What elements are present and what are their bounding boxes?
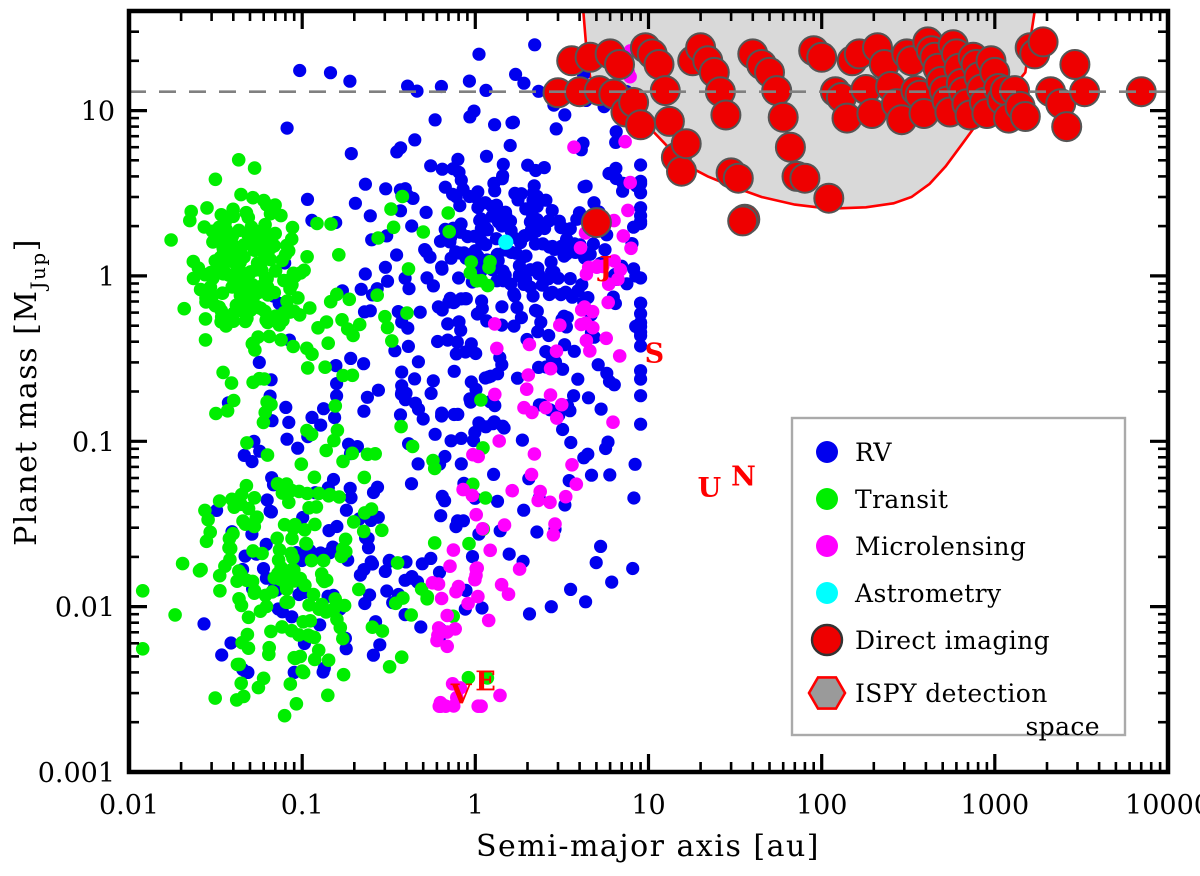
data-point <box>465 375 478 388</box>
data-point <box>287 304 301 318</box>
data-point <box>295 457 309 471</box>
data-point <box>300 250 314 264</box>
data-point <box>301 193 314 206</box>
data-point <box>487 468 500 481</box>
data-point <box>465 337 478 350</box>
data-point <box>443 559 457 573</box>
data-point <box>495 300 508 313</box>
data-point <box>517 401 531 415</box>
data-point <box>539 401 553 415</box>
data-point <box>343 75 356 88</box>
data-point <box>531 261 544 274</box>
data-point <box>412 403 425 416</box>
data-point <box>1052 112 1081 141</box>
data-point <box>582 391 595 404</box>
data-point <box>807 43 836 72</box>
y-tick-label: 0.1 <box>72 427 115 458</box>
data-point <box>332 248 346 262</box>
data-point <box>431 629 445 643</box>
data-point <box>412 457 425 470</box>
data-point <box>400 306 414 320</box>
data-point <box>548 517 562 531</box>
data-point <box>282 496 296 510</box>
data-point <box>553 318 567 332</box>
data-point <box>379 182 392 195</box>
data-point <box>577 451 590 464</box>
data-point <box>357 405 370 418</box>
data-point <box>264 625 278 639</box>
data-point <box>394 420 408 434</box>
data-point <box>282 564 296 578</box>
data-point <box>634 418 647 431</box>
data-point <box>442 225 456 239</box>
data-point <box>379 261 392 274</box>
data-point <box>645 50 674 79</box>
data-point <box>328 592 342 606</box>
data-point <box>176 557 190 571</box>
data-point <box>280 433 293 446</box>
data-point <box>316 572 330 586</box>
data-point <box>199 312 213 326</box>
data-point <box>496 169 509 182</box>
data-point <box>519 249 532 262</box>
data-point <box>429 428 442 441</box>
data-point <box>476 216 489 229</box>
data-point <box>525 228 538 241</box>
data-point <box>358 471 372 485</box>
data-point <box>626 562 639 575</box>
data-point <box>492 434 506 448</box>
y-axis-title-main: Planet mass [M <box>9 290 44 546</box>
data-point <box>728 206 757 235</box>
data-point <box>251 300 265 314</box>
data-point <box>337 668 351 682</box>
legend-label: RV <box>855 438 892 467</box>
data-point <box>240 479 254 493</box>
data-point <box>217 267 231 281</box>
data-point <box>312 487 326 501</box>
data-point <box>497 158 510 171</box>
data-point <box>634 271 647 284</box>
data-point <box>293 64 306 77</box>
data-point <box>472 416 485 429</box>
data-point <box>623 176 637 190</box>
data-point <box>603 468 616 481</box>
data-point <box>621 204 635 218</box>
data-point <box>523 338 537 352</box>
data-point <box>265 585 279 599</box>
data-point <box>579 595 592 608</box>
y-tick-label: 1 <box>98 262 115 293</box>
data-point <box>606 415 620 429</box>
data-point <box>308 518 322 532</box>
x-tick-label: 1 <box>467 790 484 821</box>
data-point <box>370 288 384 302</box>
data-point <box>187 255 201 269</box>
data-point <box>223 553 237 567</box>
data-point <box>300 342 314 356</box>
y-axis-title-sub: Jup <box>26 251 50 291</box>
data-point <box>255 264 269 278</box>
data-point <box>301 361 315 375</box>
data-point <box>349 197 362 210</box>
data-point <box>433 699 447 713</box>
data-point <box>402 282 415 295</box>
legend-item-rv[interactable]: RV <box>816 438 892 467</box>
data-point <box>467 105 480 118</box>
data-point <box>281 122 294 135</box>
data-point <box>260 244 274 258</box>
data-point <box>491 367 504 380</box>
data-point <box>263 330 277 344</box>
data-point <box>472 48 485 61</box>
data-point <box>483 255 497 269</box>
data-point <box>444 292 457 305</box>
legend-marker-dot <box>816 535 838 557</box>
data-point <box>387 221 401 235</box>
data-point <box>355 283 368 296</box>
data-point <box>292 628 306 642</box>
data-point <box>1011 102 1040 131</box>
legend-label: ISPY detection <box>855 679 1048 708</box>
data-point <box>209 407 223 421</box>
data-point <box>284 677 298 691</box>
data-point <box>790 164 819 193</box>
data-point <box>441 206 455 220</box>
data-point <box>570 477 584 491</box>
data-point <box>624 242 638 256</box>
x-tick-label: 10000 <box>1125 790 1200 821</box>
data-point <box>271 477 285 491</box>
data-point <box>538 222 551 235</box>
data-point <box>605 50 634 79</box>
data-point <box>432 300 445 313</box>
data-point <box>177 302 191 316</box>
data-point <box>274 333 288 347</box>
data-point <box>380 584 393 597</box>
data-point <box>536 237 549 250</box>
data-point <box>451 153 464 166</box>
data-point <box>495 578 509 592</box>
data-point <box>321 689 335 703</box>
data-point <box>711 101 740 130</box>
data-point <box>672 129 701 158</box>
data-point <box>481 279 495 293</box>
data-point <box>213 494 227 508</box>
data-point <box>599 332 613 346</box>
data-point <box>183 214 197 228</box>
data-point <box>595 403 608 416</box>
data-point <box>523 607 536 620</box>
data-point <box>208 691 222 705</box>
data-point <box>249 286 263 300</box>
data-point <box>168 608 182 622</box>
data-point <box>488 388 502 402</box>
data-point <box>504 139 517 152</box>
solar-system-label-n: N <box>731 462 756 493</box>
data-point <box>441 317 454 330</box>
data-point <box>491 495 504 508</box>
data-point <box>268 227 282 241</box>
data-point <box>452 271 465 284</box>
data-point <box>296 615 310 629</box>
data-point <box>237 306 251 320</box>
data-point <box>605 576 618 589</box>
data-point <box>357 357 370 370</box>
legend-label: Astrometry <box>854 579 1002 608</box>
data-point <box>525 468 539 482</box>
data-point <box>317 554 331 568</box>
data-point <box>305 554 319 568</box>
data-point <box>466 550 479 563</box>
data-point <box>554 221 567 234</box>
data-point <box>434 509 447 522</box>
data-point <box>469 508 483 522</box>
data-point <box>470 561 484 575</box>
y-tick-label: 10 <box>81 97 115 128</box>
data-point <box>233 658 247 672</box>
data-point <box>240 206 254 220</box>
data-point <box>560 233 573 246</box>
data-point <box>610 125 623 138</box>
data-point <box>286 340 300 354</box>
data-point <box>279 595 293 609</box>
data-point <box>318 360 332 374</box>
data-point <box>248 161 262 175</box>
data-point <box>242 502 256 516</box>
data-point <box>529 304 542 317</box>
data-point <box>490 342 504 356</box>
data-point <box>311 321 325 335</box>
data-point <box>226 203 240 217</box>
data-point <box>425 387 438 400</box>
data-point <box>526 194 539 207</box>
data-point <box>538 161 551 174</box>
data-point <box>446 188 459 201</box>
data-point <box>441 334 454 347</box>
data-point <box>634 158 647 171</box>
data-point <box>199 295 213 309</box>
data-point <box>198 504 212 518</box>
data-point <box>428 536 442 550</box>
data-point <box>471 185 484 198</box>
data-point <box>564 436 577 449</box>
data-point <box>234 677 248 691</box>
data-point <box>454 324 467 337</box>
legend-marker-hexagon <box>809 677 845 708</box>
x-tick-label: 0.1 <box>281 790 324 821</box>
data-point <box>428 462 442 476</box>
data-point <box>347 515 361 529</box>
data-point <box>209 173 223 187</box>
data-point <box>539 194 552 207</box>
data-point <box>234 188 248 202</box>
data-point <box>602 167 615 180</box>
data-point <box>359 178 372 191</box>
data-point <box>322 653 336 667</box>
data-point <box>450 347 463 360</box>
data-point <box>582 208 611 237</box>
data-point <box>543 496 557 510</box>
data-point <box>474 699 488 713</box>
data-point <box>556 423 569 436</box>
data-point <box>365 502 379 516</box>
data-point <box>424 159 437 172</box>
data-point <box>383 660 397 674</box>
data-point <box>240 574 254 588</box>
data-point <box>405 219 418 232</box>
data-point <box>389 597 403 611</box>
data-point <box>357 525 371 539</box>
data-point <box>375 524 389 538</box>
data-point <box>262 641 276 655</box>
data-point <box>626 110 655 139</box>
data-point <box>601 296 615 310</box>
x-tick-label: 100 <box>796 790 848 821</box>
data-point <box>586 321 600 335</box>
data-point <box>324 66 337 79</box>
data-point <box>310 217 324 231</box>
data-point <box>438 494 451 507</box>
data-point <box>545 600 558 613</box>
data-point <box>565 458 579 472</box>
data-point <box>300 424 314 438</box>
data-point <box>416 557 429 570</box>
data-point <box>550 122 563 135</box>
data-point <box>552 272 565 285</box>
data-point <box>331 424 345 438</box>
data-point <box>498 518 512 532</box>
data-point <box>479 491 493 505</box>
legend: RVTransitMicrolensingAstrometryDirect im… <box>792 418 1125 741</box>
data-point <box>574 241 588 255</box>
data-point <box>261 288 275 302</box>
data-point <box>253 356 266 369</box>
data-point <box>278 709 292 723</box>
data-point <box>300 537 314 551</box>
data-point <box>533 485 547 499</box>
data-point <box>379 565 392 578</box>
data-point <box>399 574 412 587</box>
data-point <box>385 334 399 348</box>
y-axis-title-tail: ] <box>9 238 44 251</box>
legend-marker-dot <box>816 441 838 463</box>
data-point <box>225 376 239 390</box>
data-point <box>285 484 299 498</box>
data-point <box>361 391 374 404</box>
data-point <box>528 179 541 192</box>
data-point <box>530 525 543 538</box>
data-point <box>390 248 403 261</box>
data-point <box>278 518 292 532</box>
data-point <box>448 365 461 378</box>
data-point <box>227 394 241 408</box>
data-point <box>365 555 378 568</box>
data-point <box>427 374 440 387</box>
data-point <box>479 238 492 251</box>
data-point <box>629 458 642 471</box>
data-point <box>479 371 492 384</box>
data-point <box>634 389 647 402</box>
data-point <box>408 372 421 385</box>
data-point <box>618 135 632 149</box>
data-point <box>520 382 534 396</box>
data-point <box>488 415 501 428</box>
data-point <box>451 514 464 527</box>
data-point <box>257 672 271 686</box>
data-point <box>580 180 593 193</box>
data-point <box>324 217 338 231</box>
data-point <box>426 576 440 590</box>
data-point <box>329 399 343 413</box>
data-point <box>555 398 569 412</box>
data-point <box>343 293 357 307</box>
data-point <box>254 604 268 618</box>
x-tick-label: 10 <box>631 790 665 821</box>
data-point <box>429 113 442 126</box>
data-point <box>345 147 358 160</box>
data-point <box>282 416 295 429</box>
data-point <box>504 278 517 291</box>
data-point <box>483 544 497 558</box>
y-tick-label: 0.01 <box>55 593 115 624</box>
data-point <box>216 366 230 380</box>
data-point <box>391 556 405 570</box>
data-point <box>420 206 433 219</box>
solar-system-label-e: E <box>475 667 496 698</box>
data-point <box>294 572 308 586</box>
data-point <box>724 164 753 193</box>
data-point <box>435 260 448 273</box>
data-point <box>611 272 625 286</box>
data-point <box>194 283 208 297</box>
data-point <box>550 411 564 425</box>
data-point <box>580 334 594 348</box>
scatter-series-astrometry <box>498 235 513 250</box>
data-point <box>528 38 541 51</box>
data-point <box>452 580 466 594</box>
data-point <box>440 609 454 623</box>
data-point <box>423 251 436 264</box>
data-point <box>503 548 516 561</box>
data-point <box>396 190 410 204</box>
data-point <box>471 450 485 464</box>
data-point <box>462 537 476 551</box>
data-point <box>197 617 210 630</box>
data-point <box>546 286 559 299</box>
data-point <box>519 273 532 286</box>
solar-system-label-s: S <box>645 338 665 369</box>
data-point <box>402 340 415 353</box>
data-point <box>242 611 256 625</box>
data-point <box>455 432 468 445</box>
data-point <box>515 187 528 200</box>
data-point <box>286 221 300 235</box>
legend-label-line2: space <box>1025 712 1100 741</box>
data-point <box>346 369 360 383</box>
data-point <box>417 225 431 239</box>
data-point <box>198 220 212 234</box>
data-point <box>505 116 518 129</box>
data-point <box>261 448 275 462</box>
data-point <box>330 288 344 302</box>
data-point <box>515 311 528 324</box>
data-point <box>291 442 304 455</box>
data-point <box>453 199 466 212</box>
data-point <box>359 267 372 280</box>
data-point <box>592 358 605 371</box>
data-point <box>564 272 577 285</box>
